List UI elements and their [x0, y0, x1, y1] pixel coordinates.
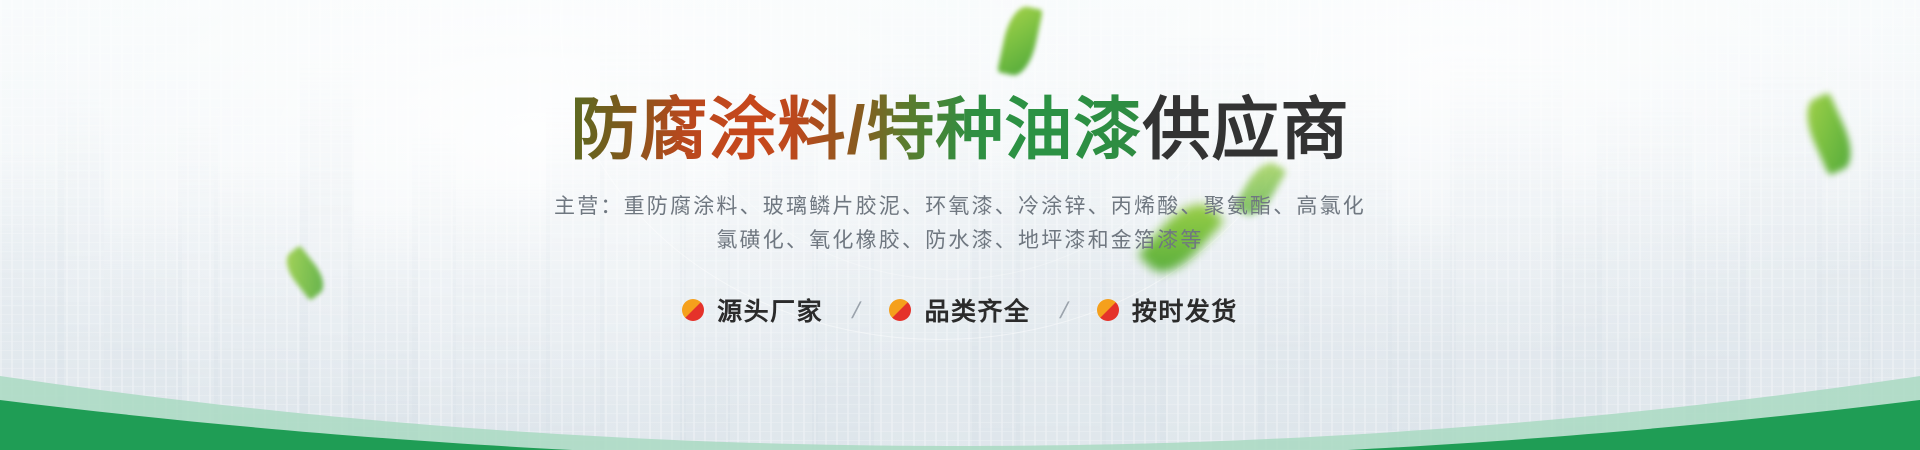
feature-label-1: 源头厂家 [717, 292, 823, 328]
split-circle-icon [682, 299, 704, 321]
subtitle-line-1: 主营：重防腐涂料、玻璃鳞片胶泥、环氧漆、冷涂锌、丙烯酸、聚氨酯、高氯化 [554, 190, 1366, 224]
split-circle-icon [889, 299, 911, 321]
feature-label-3: 按时发货 [1132, 292, 1238, 328]
subtitle-block: 主营：重防腐涂料、玻璃鳞片胶泥、环氧漆、冷涂锌、丙烯酸、聚氨酯、高氯化 氯磺化、… [554, 190, 1366, 258]
feature-item-1: 源头厂家 [682, 292, 823, 328]
split-circle-icon [1097, 299, 1119, 321]
promo-banner: 防腐涂料/特种油漆供应商 主营：重防腐涂料、玻璃鳞片胶泥、环氧漆、冷涂锌、丙烯酸… [0, 0, 1920, 450]
subtitle-line-2: 氯磺化、氧化橡胶、防水漆、地坪漆和金箔漆等 [554, 224, 1366, 258]
page-title: 防腐涂料/特种油漆供应商 [571, 96, 1350, 164]
feature-separator-2: / [1027, 297, 1100, 324]
headline-dark-text: 供应商 [1142, 92, 1349, 168]
feature-separator-1: / [820, 297, 893, 324]
feature-label-2: 品类齐全 [924, 292, 1030, 328]
feature-item-3: 按时发货 [1097, 292, 1238, 328]
banner-content: 防腐涂料/特种油漆供应商 主营：重防腐涂料、玻璃鳞片胶泥、环氧漆、冷涂锌、丙烯酸… [0, 0, 1920, 450]
headline-gradient-text: 防腐涂料/特种油漆 [571, 92, 1143, 168]
feature-item-2: 品类齐全 [889, 292, 1030, 328]
feature-list: 源头厂家 / 品类齐全 / 按时发货 [682, 292, 1238, 328]
